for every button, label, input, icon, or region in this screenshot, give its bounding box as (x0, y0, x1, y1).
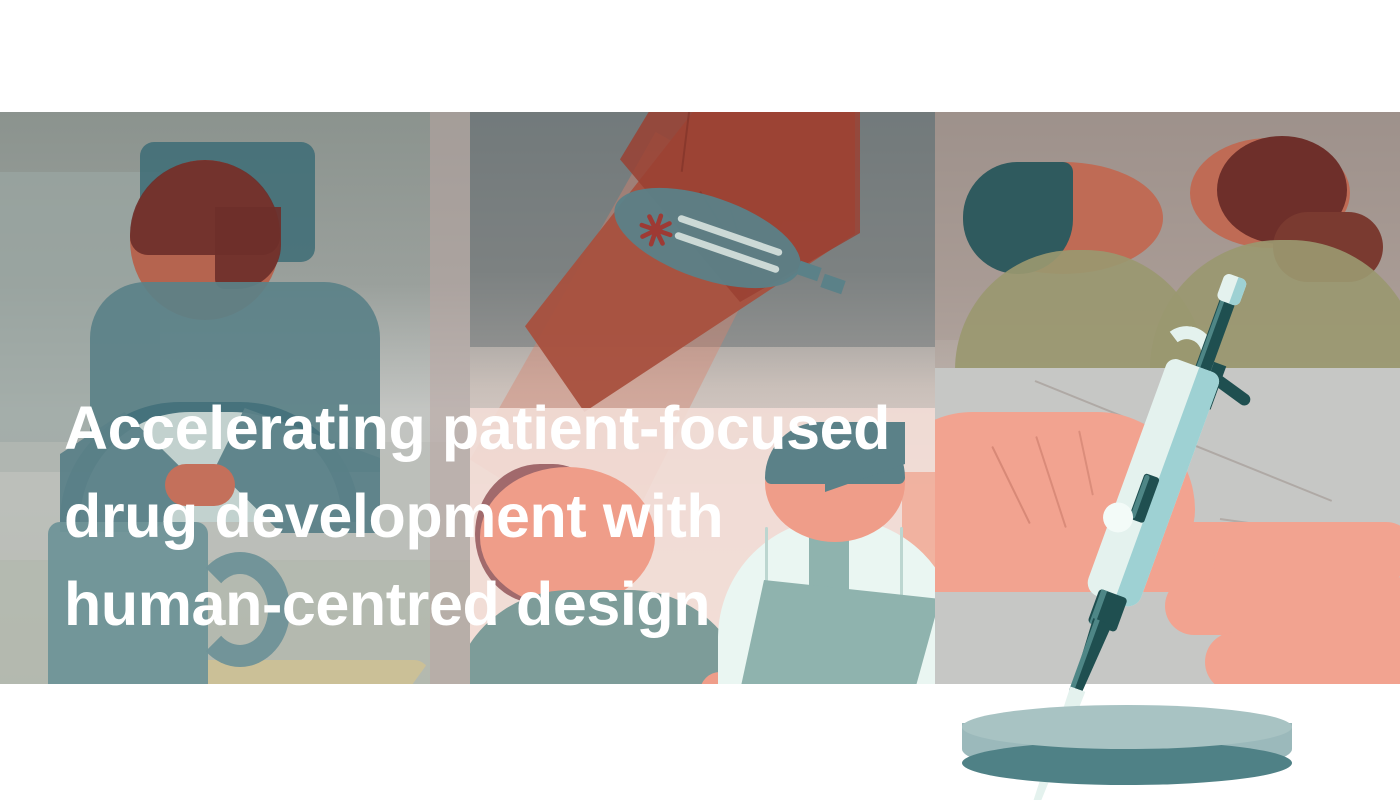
patient-head (480, 467, 655, 607)
clipboard-icon (740, 580, 935, 684)
petri-dish-icon (962, 705, 1292, 785)
mug-handle (190, 552, 290, 667)
petri-dish-rim (962, 705, 1292, 749)
panel-person-at-laptop (0, 112, 470, 684)
hero-banner-page: Accelerating patient-focused drug develo… (0, 0, 1400, 800)
finger (1205, 632, 1400, 684)
person-hand (165, 464, 235, 506)
panel-wearable-sensor (470, 112, 935, 684)
coffee-mug (48, 522, 208, 684)
left-panel-edge-strip (430, 112, 470, 684)
